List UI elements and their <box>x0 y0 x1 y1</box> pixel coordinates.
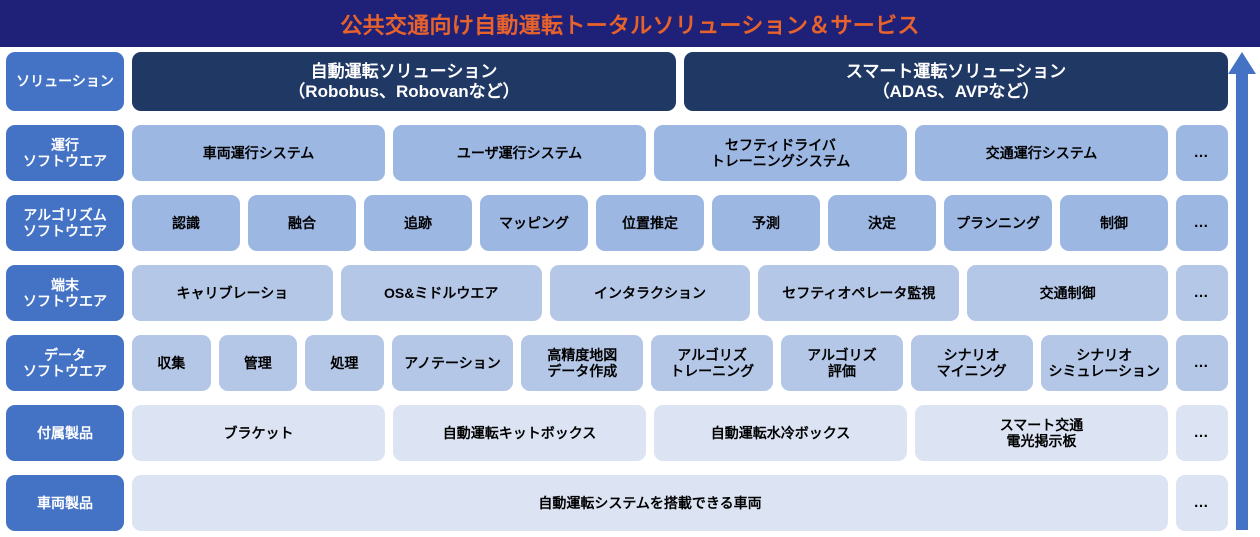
more-items-ellipsis[interactable]: … <box>1176 125 1228 181</box>
diagram-row: 車両製品自動運転システムを搭載できる車両… <box>0 475 1228 531</box>
more-items-ellipsis[interactable]: … <box>1176 195 1228 251</box>
row-cells: ブラケット自動運転キットボックス自動運転水冷ボックススマート交通 電光掲示板… <box>132 405 1228 461</box>
cell-item[interactable]: スマート運転ソリューション （ADAS、AVPなど） <box>684 52 1228 111</box>
cell-item[interactable]: スマート交通 電光掲示板 <box>915 405 1168 461</box>
diagram-rows: ソリューション自動運転ソリューション （Robobus、Robovanなど）スマ… <box>0 47 1260 537</box>
cell-item[interactable]: シナリオ シミュレーション <box>1041 335 1168 391</box>
cell-item[interactable]: ブラケット <box>132 405 385 461</box>
diagram-row: 端末 ソフトウエアキャリブレーショOS&ミドルウエアインタラクションセフティオペ… <box>0 265 1228 321</box>
cell-item[interactable]: セフティドライバ トレーニングシステム <box>654 125 907 181</box>
cell-item[interactable]: 車両運行システム <box>132 125 385 181</box>
cell-item[interactable]: アルゴリズ トレーニング <box>651 335 773 391</box>
cell-item[interactable]: 制御 <box>1060 195 1168 251</box>
cell-item[interactable]: アルゴリズ 評価 <box>781 335 903 391</box>
row-cells: 自動運転ソリューション （Robobus、Robovanなど）スマート運転ソリュ… <box>132 52 1228 111</box>
more-items-ellipsis[interactable]: … <box>1176 475 1228 531</box>
row-label[interactable]: ソリューション <box>6 52 124 111</box>
cell-item[interactable]: セフティオペレータ監視 <box>758 265 959 321</box>
arrow-up-icon <box>1228 52 1256 530</box>
row-cells: 車両運行システムユーザ運行システムセフティドライバ トレーニングシステム交通運行… <box>132 125 1228 181</box>
cell-item[interactable]: 認識 <box>132 195 240 251</box>
cell-item[interactable]: 処理 <box>305 335 384 391</box>
row-cells: キャリブレーショOS&ミドルウエアインタラクションセフティオペレータ監視交通制御… <box>132 265 1228 321</box>
cell-item[interactable]: 自動運転キットボックス <box>393 405 646 461</box>
more-items-ellipsis[interactable]: … <box>1176 335 1228 391</box>
cell-item[interactable]: アノテーション <box>392 335 514 391</box>
cell-item[interactable]: 決定 <box>828 195 936 251</box>
diagram-row: データ ソフトウエア収集管理処理アノテーション高精度地図 データ作成アルゴリズ … <box>0 335 1228 391</box>
row-label[interactable]: 車両製品 <box>6 475 124 531</box>
diagram-row: 運行 ソフトウエア車両運行システムユーザ運行システムセフティドライバ トレーニン… <box>0 125 1228 181</box>
row-label[interactable]: 運行 ソフトウエア <box>6 125 124 181</box>
more-items-ellipsis[interactable]: … <box>1176 405 1228 461</box>
cell-item[interactable]: 交通運行システム <box>915 125 1168 181</box>
cell-item[interactable]: 交通制御 <box>967 265 1168 321</box>
cell-item[interactable]: 自動運転システムを搭載できる車両 <box>132 475 1168 531</box>
arrow-up-svg <box>1228 52 1256 530</box>
row-cells: 収集管理処理アノテーション高精度地図 データ作成アルゴリズ トレーニングアルゴリ… <box>132 335 1228 391</box>
cell-item[interactable]: 位置推定 <box>596 195 704 251</box>
diagram-root: 公共交通向け自動運転トータルソリューション＆サービス ソリューション自動運転ソリ… <box>0 0 1260 537</box>
cell-item[interactable]: 融合 <box>248 195 356 251</box>
row-label[interactable]: 端末 ソフトウエア <box>6 265 124 321</box>
row-label[interactable]: データ ソフトウエア <box>6 335 124 391</box>
cell-item[interactable]: 高精度地図 データ作成 <box>521 335 643 391</box>
cell-item[interactable]: ユーザ運行システム <box>393 125 646 181</box>
cell-item[interactable]: キャリブレーショ <box>132 265 333 321</box>
cell-item[interactable]: 管理 <box>219 335 298 391</box>
cell-item[interactable]: 自動運転ソリューション （Robobus、Robovanなど） <box>132 52 676 111</box>
row-label[interactable]: 付属製品 <box>6 405 124 461</box>
more-items-ellipsis[interactable]: … <box>1176 265 1228 321</box>
diagram-row: ソリューション自動運転ソリューション （Robobus、Robovanなど）スマ… <box>0 52 1228 111</box>
cell-item[interactable]: 予測 <box>712 195 820 251</box>
cell-item[interactable]: シナリオ マイニング <box>911 335 1033 391</box>
row-cells: 認識融合追跡マッピング位置推定予測決定プランニング制御… <box>132 195 1228 251</box>
cell-item[interactable]: 追跡 <box>364 195 472 251</box>
diagram-row: 付属製品ブラケット自動運転キットボックス自動運転水冷ボックススマート交通 電光掲… <box>0 405 1228 461</box>
diagram-row: アルゴリズム ソフトウエア認識融合追跡マッピング位置推定予測決定プランニング制御… <box>0 195 1228 251</box>
diagram-banner: 公共交通向け自動運転トータルソリューション＆サービス <box>0 0 1260 47</box>
cell-item[interactable]: 収集 <box>132 335 211 391</box>
cell-item[interactable]: 自動運転水冷ボックス <box>654 405 907 461</box>
page-title: 公共交通向け自動運転トータルソリューション＆サービス <box>340 8 919 40</box>
row-cells: 自動運転システムを搭載できる車両… <box>132 475 1228 531</box>
cell-item[interactable]: OS&ミドルウエア <box>341 265 542 321</box>
cell-item[interactable]: プランニング <box>944 195 1052 251</box>
row-label[interactable]: アルゴリズム ソフトウエア <box>6 195 124 251</box>
cell-item[interactable]: マッピング <box>480 195 588 251</box>
cell-item[interactable]: インタラクション <box>550 265 751 321</box>
